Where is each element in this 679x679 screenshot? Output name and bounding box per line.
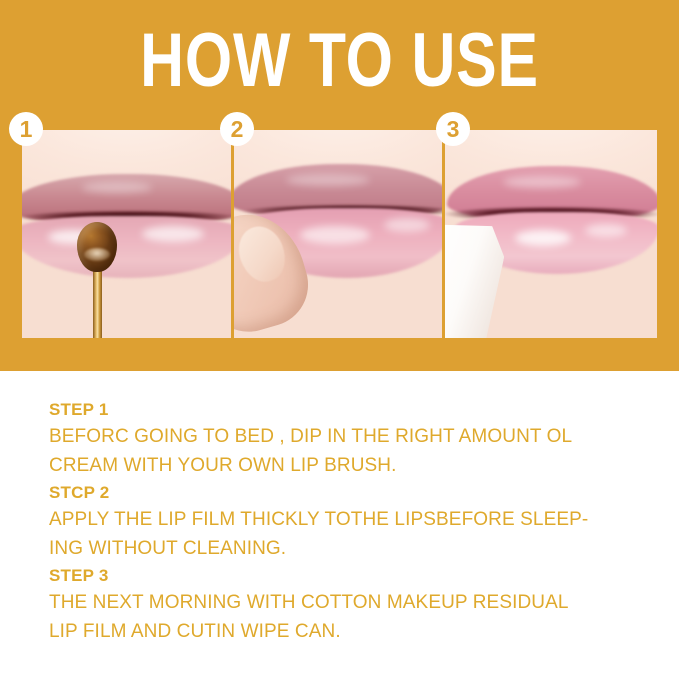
step-3-line-1: THE NEXT MORNING WITH COTTON MAKEUP RESI… [49, 588, 649, 617]
step-3-heading: STEP 3 [49, 563, 649, 588]
how-to-use-banner: HOW TO USE [0, 0, 679, 371]
dropper-stem-icon [93, 268, 102, 338]
step-badge-1: 1 [9, 112, 43, 146]
step-1-line-1: BEFORC GOING TO BED , DIP IN THE RIGHT A… [49, 422, 649, 451]
lip-finger-apply-photo [234, 130, 442, 338]
step-2-line-2: ING WITHOUT CLEANING. [49, 534, 649, 563]
step-2-heading: STCP 2 [49, 480, 649, 505]
lip-cotton-pad-wipe-photo [445, 130, 657, 338]
step-badge-2: 2 [220, 112, 254, 146]
lip-dropper-applicator-photo [22, 130, 231, 338]
dropper-bulb-icon [77, 222, 117, 272]
step-image-strip [22, 130, 657, 338]
step-1-line-2: CREAM WITH YOUR OWN LIP BRUSH. [49, 451, 649, 480]
step-image-1 [22, 130, 231, 338]
step-2-line-1: APPLY THE LIP FILM THICKLY TOTHE LIPSBEF… [49, 505, 649, 534]
step-1-heading: STEP 1 [49, 397, 649, 422]
step-badge-3: 3 [436, 112, 470, 146]
step-image-3 [445, 130, 657, 338]
step-image-2 [234, 130, 442, 338]
page-title: HOW TO USE [68, 26, 611, 96]
instructions-block: STEP 1 BEFORC GOING TO BED , DIP IN THE … [49, 397, 649, 646]
step-3-line-2: LIP FILM AND CUTIN WIPE CAN. [49, 617, 649, 646]
